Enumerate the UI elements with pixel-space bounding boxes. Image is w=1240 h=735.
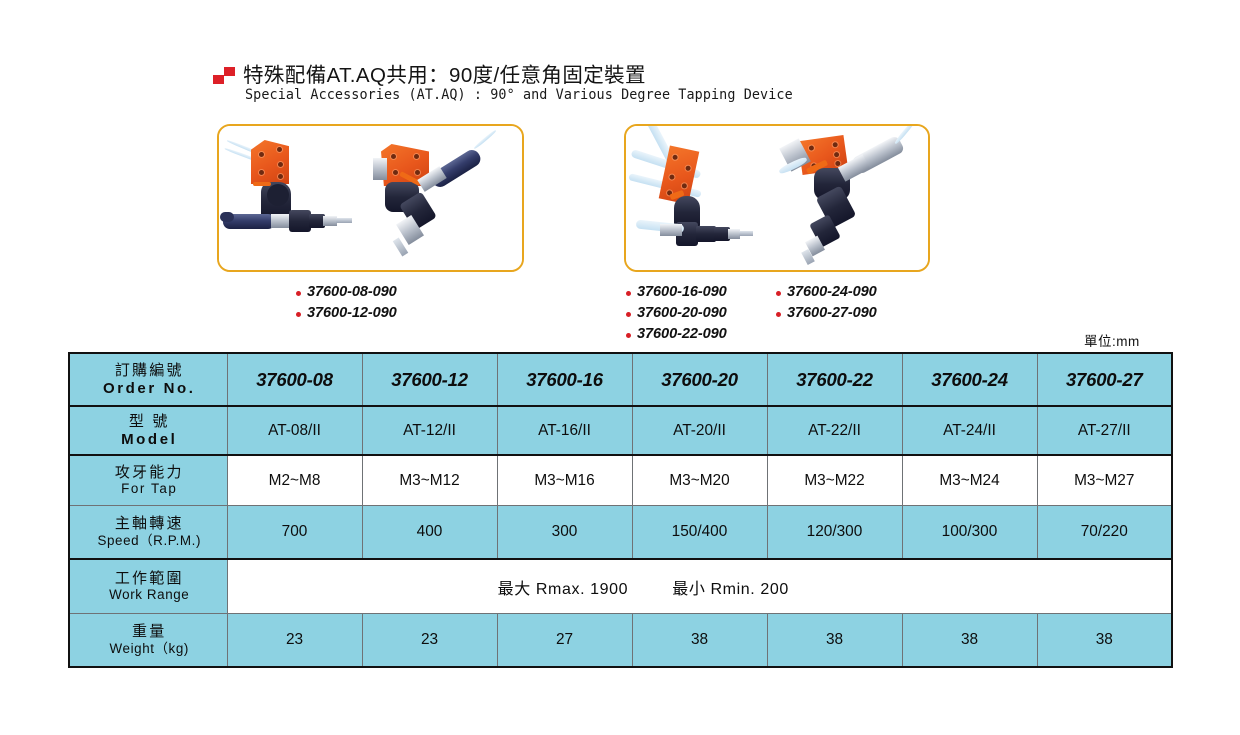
part-number-list-left: 37600-08-090 37600-12-090 (296, 282, 397, 324)
row-label-en: Order No. (70, 380, 227, 398)
heading-chinese: 特殊配備AT.AQ共用：90度/任意角固定裝置 (243, 58, 646, 88)
cell-weight-2: 23 (362, 614, 497, 668)
photo-stage-left (219, 126, 522, 270)
cell-order-6: 37600-24 (902, 353, 1037, 406)
row-label-cn: 工作範圍 (70, 570, 227, 588)
cell-order-3: 37600-16 (497, 353, 632, 406)
row-label-cn: 重量 (70, 623, 227, 641)
table-row-speed: 主軸轉速 Speed（R.P.M.) 700 400 300 150/400 1… (69, 506, 1172, 560)
cell-tap-3: M3~M16 (497, 455, 632, 506)
cell-work-range-merged: 最大 Rmax. 1900 最小 Rmin. 200 (227, 559, 1172, 614)
cell-model-3: AT-16/II (497, 406, 632, 455)
heading-english: Special Accessories (AT.AQ) : 90° and Va… (245, 86, 793, 103)
cell-speed-4: 150/400 (632, 506, 767, 560)
row-label-en: Model (70, 431, 227, 449)
row-label-en: Work Range (70, 587, 227, 603)
part-number-list-right: 37600-24-090 37600-27-090 (776, 282, 877, 324)
cell-tap-6: M3~M24 (902, 455, 1037, 506)
cell-weight-1: 23 (227, 614, 362, 668)
row-label-work-range: 工作範圍 Work Range (69, 559, 227, 614)
cell-order-4: 37600-20 (632, 353, 767, 406)
cell-weight-7: 38 (1037, 614, 1172, 668)
unit-note: 單位:mm (1084, 330, 1140, 350)
photo-stage-right (626, 126, 928, 270)
row-label-weight: 重量 Weight（kg) (69, 614, 227, 668)
cell-tap-1: M2~M8 (227, 455, 362, 506)
part-number-list-middle: 37600-16-090 37600-20-090 37600-22-090 (626, 282, 727, 345)
row-label-order-no: 訂購編號 Order No. (69, 353, 227, 406)
cell-tap-4: M3~M20 (632, 455, 767, 506)
cell-speed-6: 100/300 (902, 506, 1037, 560)
double-square-bullet-icon (213, 67, 235, 84)
cell-model-6: AT-24/II (902, 406, 1037, 455)
cell-speed-7: 70/220 (1037, 506, 1172, 560)
row-label-speed: 主軸轉速 Speed（R.P.M.) (69, 506, 227, 560)
cell-weight-6: 38 (902, 614, 1037, 668)
cell-model-5: AT-22/II (767, 406, 902, 455)
cell-speed-2: 400 (362, 506, 497, 560)
cell-speed-3: 300 (497, 506, 632, 560)
row-label-en: Speed（R.P.M.) (70, 533, 227, 549)
cell-order-7: 37600-27 (1037, 353, 1172, 406)
list-item: 37600-20-090 (626, 303, 727, 324)
cell-weight-3: 27 (497, 614, 632, 668)
cell-model-1: AT-08/II (227, 406, 362, 455)
list-item: 37600-22-090 (626, 324, 727, 345)
list-item: 37600-08-090 (296, 282, 397, 303)
list-item: 37600-24-090 (776, 282, 877, 303)
cell-order-2: 37600-12 (362, 353, 497, 406)
cell-tap-2: M3~M12 (362, 455, 497, 506)
list-item: 37600-27-090 (776, 303, 877, 324)
work-range-max: 最大 Rmax. 1900 (498, 581, 629, 598)
cell-tap-5: M3~M22 (767, 455, 902, 506)
work-range-min: 最小 Rmin. 200 (672, 581, 789, 598)
row-label-en: For Tap (70, 481, 227, 497)
table-row-order-no: 訂購編號 Order No. 37600-08 37600-12 37600-1… (69, 353, 1172, 406)
list-item: 37600-12-090 (296, 303, 397, 324)
product-photo-right (624, 124, 930, 272)
row-label-cn: 主軸轉速 (70, 515, 227, 533)
specification-table: 訂購編號 Order No. 37600-08 37600-12 37600-1… (68, 352, 1173, 668)
cell-weight-4: 38 (632, 614, 767, 668)
row-label-en: Weight（kg) (70, 641, 227, 657)
cell-weight-5: 38 (767, 614, 902, 668)
table-row-model: 型 號 Model AT-08/II AT-12/II AT-16/II AT-… (69, 406, 1172, 455)
row-label-model: 型 號 Model (69, 406, 227, 455)
list-item: 37600-16-090 (626, 282, 727, 303)
cell-model-2: AT-12/II (362, 406, 497, 455)
row-label-cn: 攻牙能力 (70, 464, 227, 482)
cell-speed-5: 120/300 (767, 506, 902, 560)
cell-speed-1: 700 (227, 506, 362, 560)
table-row-for-tap: 攻牙能力 For Tap M2~M8 M3~M12 M3~M16 M3~M20 … (69, 455, 1172, 506)
row-label-for-tap: 攻牙能力 For Tap (69, 455, 227, 506)
row-label-cn: 型 號 (70, 413, 227, 431)
cell-model-7: AT-27/II (1037, 406, 1172, 455)
table-row-weight: 重量 Weight（kg) 23 23 27 38 38 38 38 (69, 614, 1172, 668)
cell-order-1: 37600-08 (227, 353, 362, 406)
cell-order-5: 37600-22 (767, 353, 902, 406)
cell-tap-7: M3~M27 (1037, 455, 1172, 506)
cell-model-4: AT-20/II (632, 406, 767, 455)
product-photo-left (217, 124, 524, 272)
row-label-cn: 訂購編號 (70, 362, 227, 380)
table-row-work-range: 工作範圍 Work Range 最大 Rmax. 1900 最小 Rmin. 2… (69, 559, 1172, 614)
